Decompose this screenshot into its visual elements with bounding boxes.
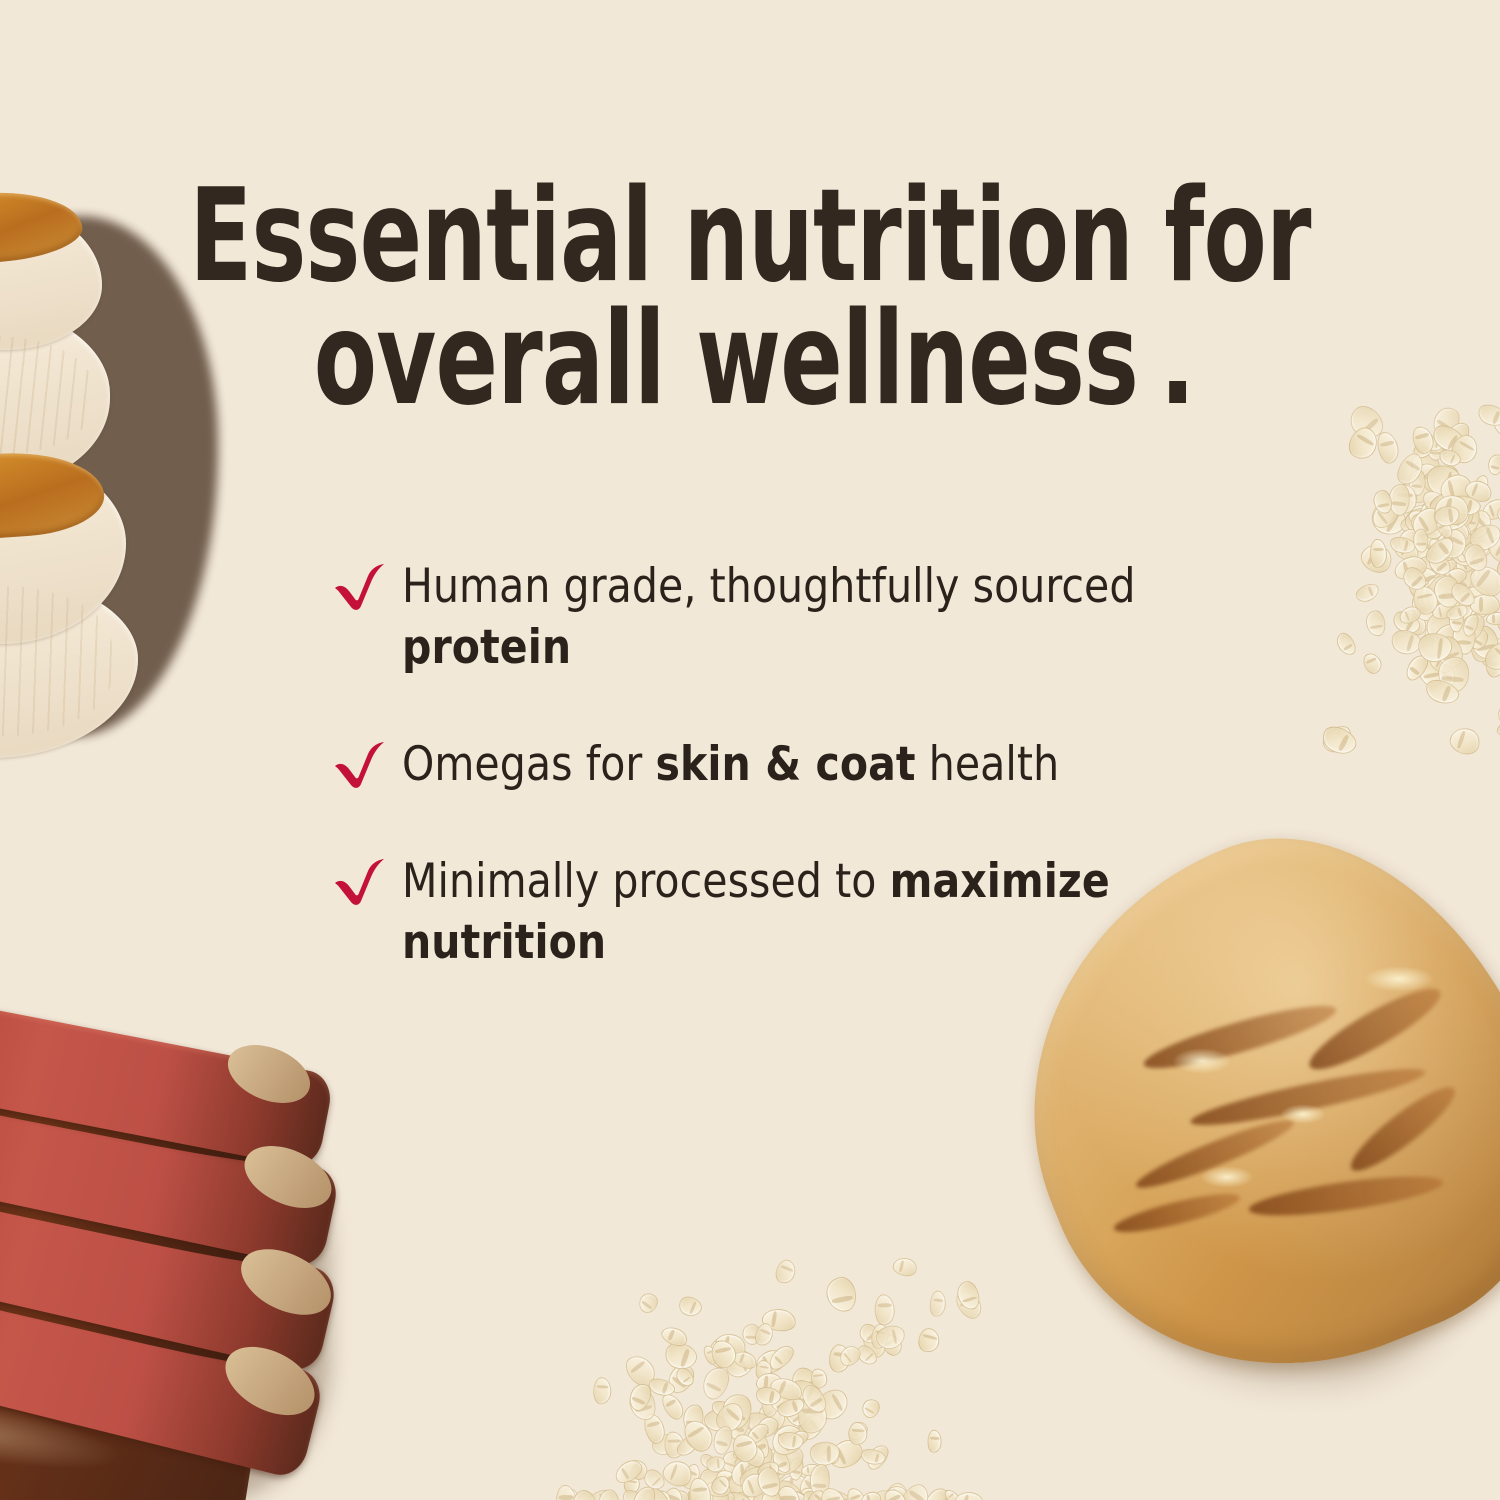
oat-flake — [679, 1415, 718, 1456]
benefits-list: Human grade, thoughtfully sourced protei… — [332, 556, 1212, 973]
oat-flake — [788, 1376, 824, 1406]
oat-flake — [1413, 528, 1429, 552]
oat-flake — [1411, 449, 1441, 484]
oat-flake — [1393, 449, 1429, 489]
oat-flake — [1447, 532, 1490, 571]
oat-flake — [794, 1463, 834, 1500]
oat-flake — [773, 1389, 801, 1414]
oat-flake — [1433, 575, 1461, 608]
oat-flake — [821, 1485, 857, 1500]
oat-flake — [1494, 398, 1500, 437]
oat-flake — [1426, 586, 1465, 620]
oat-flake — [951, 1488, 988, 1500]
oat-flake — [664, 1431, 685, 1459]
oat-flake — [1461, 584, 1494, 621]
oat-flake — [1391, 553, 1428, 583]
oat-flake — [1439, 474, 1470, 503]
oat-flake — [678, 1486, 716, 1500]
oat-flake — [1410, 424, 1437, 457]
oat-flake — [870, 1490, 897, 1500]
oat-flake — [784, 1484, 815, 1500]
oat-flake — [765, 1342, 798, 1374]
oat-flake — [1487, 405, 1500, 445]
oat-flake — [738, 1438, 769, 1470]
oat-flake — [766, 1420, 809, 1461]
oat-flake — [1408, 469, 1427, 497]
oat-flake — [1465, 559, 1500, 602]
oat-flake — [701, 1344, 719, 1367]
oat-flake — [785, 1488, 809, 1500]
oat-flake — [789, 1385, 809, 1412]
oat-flake — [1443, 569, 1468, 590]
oat-flake — [1432, 491, 1473, 529]
oat-flake — [1371, 489, 1394, 516]
benefit-text-plain: Omegas for — [402, 737, 656, 792]
oat-flake — [1429, 511, 1469, 551]
oat-flake — [809, 1368, 828, 1389]
oat-flake — [1426, 535, 1448, 559]
oat-flake — [836, 1342, 864, 1369]
oat-flake — [583, 1486, 618, 1500]
oat-flake — [1439, 514, 1474, 545]
oat-flake — [693, 1484, 717, 1500]
oat-flake — [730, 1426, 751, 1441]
oat-flake — [768, 1404, 808, 1442]
oat-flake — [880, 1480, 913, 1500]
oat-flake — [1458, 531, 1494, 564]
oat-flake — [927, 1430, 942, 1453]
oat-flake — [636, 1490, 661, 1500]
oat-flake — [710, 1338, 739, 1370]
oat-flake — [1415, 563, 1447, 601]
oat-flake — [691, 1483, 714, 1500]
oat-flake — [1411, 583, 1441, 616]
oat-flake — [1412, 522, 1438, 545]
oat-flake — [1486, 612, 1500, 626]
benefit-text-emphasis: protein — [402, 620, 571, 675]
oat-flake — [775, 1395, 807, 1420]
oat-flake — [1423, 551, 1445, 578]
oat-flake — [787, 1456, 806, 1481]
oat-flake — [810, 1442, 840, 1466]
oat-flake — [737, 1463, 774, 1496]
oat-flake — [640, 1465, 668, 1493]
oat-flake — [704, 1480, 731, 1498]
oat-flake — [773, 1257, 800, 1286]
oat-flake — [1454, 609, 1490, 647]
oat-flake — [654, 1490, 671, 1500]
oat-flake — [743, 1441, 778, 1480]
oat-flake — [747, 1487, 782, 1500]
oat-flake — [1451, 620, 1476, 655]
oat-flake — [1437, 525, 1472, 563]
oat-flake — [1375, 430, 1401, 466]
oat-flake — [859, 1447, 886, 1467]
oat-flake — [1404, 539, 1441, 567]
oat-flake — [753, 1413, 782, 1441]
oat-flake — [858, 1396, 882, 1421]
oat-flake — [1405, 552, 1436, 582]
oat-flake — [818, 1485, 850, 1500]
oat-flake — [752, 1346, 789, 1378]
oat-flake — [1398, 513, 1425, 535]
oat-flake — [754, 1443, 797, 1488]
oat-flake — [1436, 591, 1462, 618]
oat-flake — [1448, 493, 1474, 517]
oat-flake — [664, 1487, 693, 1500]
oat-flake — [760, 1348, 781, 1373]
oat-flake — [1444, 587, 1480, 627]
oat-flake — [743, 1419, 772, 1447]
oat-flake — [673, 1432, 702, 1460]
oat-flake — [733, 1492, 755, 1500]
oat-flake — [1448, 493, 1482, 518]
oat-flake — [1416, 573, 1457, 611]
oat-flake — [1444, 572, 1472, 602]
oat-flake — [760, 1489, 782, 1500]
oat-flake — [1480, 496, 1500, 523]
oat-flake — [641, 1411, 668, 1446]
benefit-text: Human grade, thoughtfully sourced protei… — [402, 556, 1188, 678]
benefit-text: Omegas for skin & coat health — [402, 734, 1059, 795]
oat-flake — [1319, 721, 1358, 757]
oat-flake — [1387, 483, 1411, 517]
oat-flake — [1429, 570, 1458, 605]
oat-flake — [684, 1486, 707, 1500]
oat-flake — [1434, 525, 1474, 554]
oat-flake — [738, 1471, 771, 1500]
oat-flake — [1432, 495, 1467, 528]
oat-flake — [1397, 603, 1423, 626]
oat-flake — [697, 1363, 733, 1404]
oat-flake — [1494, 504, 1500, 529]
oat-flake — [1450, 611, 1479, 646]
oat-flake — [1368, 497, 1405, 532]
oat-flake — [1431, 633, 1467, 673]
oat-flake — [1453, 539, 1480, 565]
oat-flake — [1406, 573, 1427, 599]
oat-flake — [685, 1483, 718, 1500]
oat-flake — [598, 1488, 620, 1500]
oat-flake — [676, 1293, 704, 1320]
oat-flake — [1494, 716, 1500, 739]
oat-flake — [952, 1286, 986, 1322]
oat-flake — [1460, 612, 1481, 639]
oat-flake — [1389, 626, 1425, 658]
oat-flake — [954, 1279, 982, 1313]
oat-flake — [635, 1290, 661, 1316]
oat-flake — [1477, 634, 1500, 674]
oat-flake — [777, 1485, 801, 1500]
sliced-beef-steak-photo — [0, 1010, 470, 1500]
oat-flake — [1438, 559, 1464, 590]
oat-flake — [628, 1387, 651, 1410]
headline-line-1: Essential nutrition for — [150, 176, 1350, 299]
oat-flake — [724, 1406, 755, 1443]
oat-flake — [1463, 477, 1495, 505]
oat-flake — [1485, 532, 1500, 570]
oat-flake — [1410, 439, 1435, 462]
checkmark-icon — [332, 857, 388, 907]
benefit-text-plain: Minimally processed to — [402, 854, 890, 909]
oat-flake — [813, 1489, 848, 1500]
oat-flake — [622, 1473, 642, 1495]
oat-flake — [1434, 504, 1461, 527]
oat-flake — [1430, 521, 1466, 560]
oat-flake — [1436, 446, 1463, 470]
oat-flake — [1429, 516, 1468, 551]
oat-flake — [1392, 483, 1418, 514]
oat-flake — [927, 1486, 958, 1500]
oat-flake — [1413, 575, 1450, 609]
headline-line-2-wrap: overall wellness — [150, 299, 1350, 422]
oat-flake — [730, 1442, 752, 1462]
oat-flake — [1452, 549, 1481, 576]
oat-flake — [727, 1467, 754, 1500]
oat-flake — [1486, 452, 1500, 476]
oat-flake — [663, 1359, 700, 1397]
oat-flake — [1344, 400, 1389, 446]
oat-flake — [1422, 434, 1446, 453]
oat-flake — [884, 1484, 909, 1500]
oat-flake — [797, 1475, 822, 1500]
oat-flake — [1437, 656, 1470, 693]
oat-flake — [743, 1408, 782, 1442]
oat-flake — [744, 1425, 773, 1462]
oat-flake — [660, 1457, 696, 1491]
oat-flake — [1417, 500, 1444, 530]
oat-flake — [1426, 619, 1463, 657]
oat-flake — [1494, 565, 1500, 594]
oat-flake — [684, 1490, 715, 1500]
oat-flake — [1437, 472, 1474, 505]
oat-flake — [1469, 473, 1492, 500]
oat-flake — [749, 1486, 789, 1500]
oat-flake — [1404, 482, 1435, 505]
oat-flake — [639, 1484, 674, 1500]
oat-flake — [718, 1448, 742, 1474]
oat-flake — [1424, 659, 1461, 698]
oat-flake — [848, 1421, 869, 1446]
oat-flake — [1435, 560, 1465, 598]
oat-flake — [1389, 608, 1423, 639]
oat-flake — [713, 1330, 749, 1360]
oat-flake — [845, 1419, 871, 1443]
oat-flake — [629, 1486, 663, 1500]
oat-flake — [1435, 466, 1460, 498]
oat-flake — [1402, 503, 1438, 536]
oat-flake — [1493, 604, 1500, 637]
oat-flake — [1426, 439, 1444, 461]
oat-flake — [662, 1338, 701, 1373]
oat-flake — [1364, 610, 1387, 638]
oat-flake — [1427, 488, 1466, 523]
oat-flake — [1409, 508, 1435, 529]
oat-flake — [767, 1374, 806, 1406]
oat-flake — [1400, 525, 1441, 564]
oat-flake — [1429, 421, 1470, 458]
oat-flake — [1411, 588, 1437, 622]
oat-flake — [828, 1343, 852, 1373]
oat-flake — [1399, 563, 1431, 595]
oat-flake — [1470, 594, 1500, 615]
oat-flake — [1443, 501, 1478, 535]
oat-flake — [1445, 603, 1471, 623]
oat-flake — [1393, 524, 1424, 554]
oat-flake — [1462, 541, 1491, 574]
oat-flake — [619, 1486, 651, 1500]
oat-flake — [1484, 655, 1500, 679]
oat-flake — [765, 1380, 802, 1419]
oat-flake — [1440, 551, 1483, 591]
oat-flake — [647, 1486, 670, 1500]
oat-flake — [809, 1463, 831, 1498]
oat-flake — [1439, 498, 1461, 514]
oat-flake — [826, 1435, 867, 1472]
oat-flake — [555, 1485, 576, 1500]
oat-flake — [1422, 513, 1448, 541]
oat-flake — [673, 1365, 697, 1390]
oat-flake — [726, 1402, 748, 1423]
oat-flake — [794, 1483, 831, 1500]
oat-flake — [1468, 623, 1500, 663]
oat-flake — [1475, 401, 1500, 430]
oat-flake — [728, 1460, 748, 1488]
oat-flake — [625, 1380, 655, 1414]
oat-flake — [1449, 520, 1472, 551]
oat-flake — [1361, 651, 1385, 677]
oat-flake — [702, 1407, 737, 1433]
oat-flake — [1430, 551, 1474, 596]
checkmark-icon — [332, 740, 388, 790]
oat-flake — [1480, 638, 1500, 675]
oat-flake — [770, 1476, 806, 1500]
oat-flake — [1402, 651, 1433, 684]
oat-flake — [628, 1483, 660, 1500]
oat-flake — [1433, 516, 1455, 541]
oat-flake — [1422, 675, 1462, 708]
oat-flake — [1370, 539, 1387, 568]
oat-flake — [1425, 572, 1463, 602]
oat-flake — [785, 1427, 811, 1450]
oat-flake — [778, 1387, 814, 1419]
oat-flake — [929, 1290, 948, 1318]
oat-flake — [711, 1398, 750, 1437]
oat-flake — [1388, 534, 1417, 556]
oat-flake — [1424, 537, 1462, 572]
oat-flake — [761, 1390, 779, 1418]
oat-flake — [1425, 434, 1457, 461]
oat-flake — [1424, 463, 1463, 499]
oat-flake — [1410, 511, 1440, 536]
oat-flake — [1436, 587, 1459, 607]
oat-flake — [1446, 579, 1478, 611]
oat-flake — [1393, 540, 1421, 564]
oat-flake — [1433, 501, 1473, 542]
oat-flake — [659, 1323, 691, 1350]
oat-flake — [799, 1487, 833, 1500]
list-item: Omegas for skin & coat health — [332, 734, 1212, 795]
list-item: Minimally processed to maximize nutritio… — [332, 851, 1212, 973]
oat-flake — [627, 1385, 660, 1423]
oat-flake — [716, 1487, 757, 1500]
oat-flake — [658, 1485, 686, 1500]
oat-flake — [863, 1442, 892, 1473]
oat-flake — [1426, 534, 1460, 568]
oat-flake — [622, 1455, 652, 1483]
oat-flake — [894, 1479, 935, 1500]
oat-flake — [1421, 570, 1464, 615]
oat-flake — [1447, 593, 1480, 620]
oat-flake — [680, 1462, 703, 1491]
oat-flake — [593, 1377, 612, 1405]
oat-flake — [1440, 565, 1468, 588]
oat-flake — [860, 1490, 883, 1500]
oat-flake — [695, 1464, 728, 1496]
oat-flake — [703, 1331, 742, 1372]
oat-flake — [649, 1431, 681, 1459]
oat-flake — [711, 1487, 738, 1500]
oat-flake — [1454, 560, 1474, 591]
oat-flake — [1465, 625, 1491, 653]
oat-flake — [813, 1439, 844, 1469]
oat-flake — [875, 1294, 895, 1326]
oat-flake — [882, 1486, 911, 1500]
oat-flake — [1413, 458, 1451, 500]
oat-flake — [803, 1392, 836, 1425]
oat-flake — [688, 1476, 712, 1500]
oat-flake — [770, 1447, 794, 1476]
oat-flake — [824, 1275, 859, 1315]
oat-flake — [1447, 724, 1484, 758]
oat-flake — [920, 1484, 952, 1500]
oat-flake — [1440, 502, 1469, 530]
oat-flake — [1457, 538, 1488, 568]
oat-flake — [656, 1488, 681, 1500]
oat-flake — [859, 1325, 890, 1361]
oat-flake — [1442, 501, 1469, 525]
benefit-text-plain: Human grade, thoughtfully sourced — [402, 559, 1135, 614]
list-item: Human grade, thoughtfully sourced protei… — [332, 556, 1212, 678]
oat-flake — [717, 1390, 755, 1432]
oat-flake — [1428, 403, 1464, 441]
oat-flake — [1418, 513, 1443, 547]
oat-flake — [731, 1446, 769, 1479]
oat-flake — [1419, 535, 1441, 561]
oat-flake — [778, 1474, 813, 1498]
oat-flake — [1407, 502, 1449, 541]
oat-flake — [1417, 522, 1452, 561]
promo-banner: Essential nutrition for overall wellness… — [0, 0, 1500, 1500]
oat-flake — [712, 1465, 746, 1500]
oat-flake — [1444, 535, 1468, 557]
checkmark-icon — [332, 562, 388, 612]
oat-flake — [760, 1306, 797, 1333]
oat-flake — [1418, 486, 1456, 524]
oat-flake — [856, 1320, 883, 1348]
oat-flake — [1343, 423, 1383, 465]
oat-flake — [755, 1465, 783, 1499]
oat-flake — [744, 1460, 773, 1480]
oat-flake — [1426, 583, 1468, 622]
oat-flake — [730, 1431, 760, 1464]
oat-flake — [1440, 418, 1474, 456]
oat-flake — [1421, 533, 1459, 569]
oat-flake — [746, 1461, 769, 1485]
headline-square-period — [1169, 381, 1186, 403]
oat-flake — [754, 1384, 782, 1407]
oat-flake — [793, 1410, 829, 1445]
